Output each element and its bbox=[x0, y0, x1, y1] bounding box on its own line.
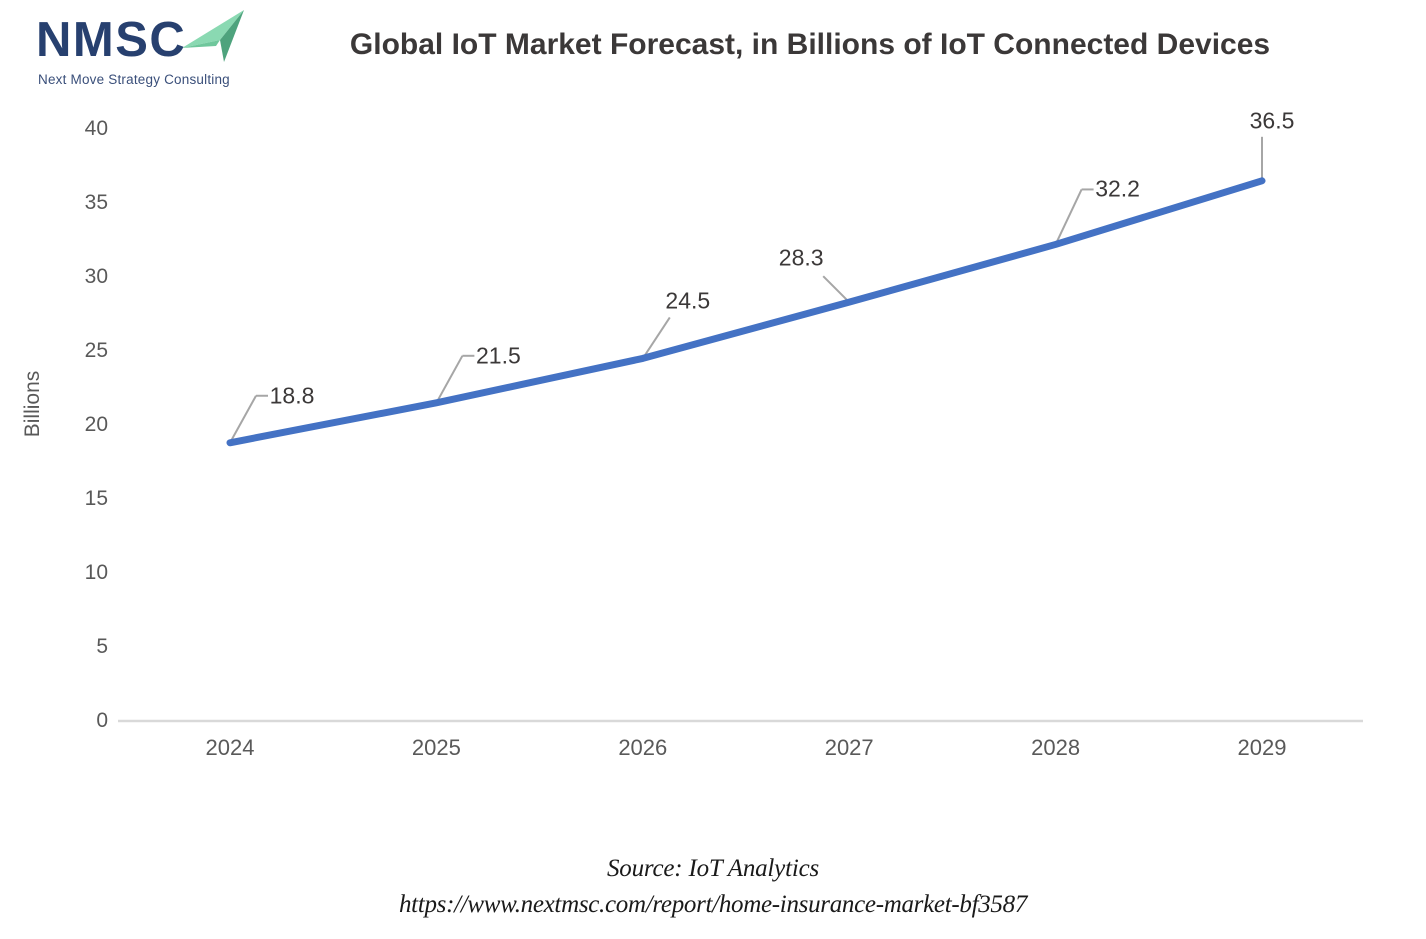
source-value: IoT Analytics bbox=[688, 855, 819, 882]
data-label-2029: 36.5 bbox=[1250, 107, 1295, 134]
leader-line-2027 bbox=[823, 276, 849, 302]
source-label: Source: bbox=[607, 855, 682, 882]
x-tick-label-2027: 2027 bbox=[789, 735, 909, 761]
x-tick-label-2029: 2029 bbox=[1202, 735, 1322, 761]
data-label-2027: 28.3 bbox=[779, 245, 824, 272]
series-line-iot-devices bbox=[230, 181, 1262, 443]
report-url[interactable]: https://www.nextmsc.com/report/home-insu… bbox=[0, 891, 1426, 919]
x-tick-label-2028: 2028 bbox=[996, 735, 1116, 761]
data-label-2024: 18.8 bbox=[270, 382, 315, 409]
data-label-2026: 24.5 bbox=[665, 288, 710, 315]
chart-canvas bbox=[0, 0, 1426, 800]
chart-footer: Source: IoT Analytics https://www.nextms… bbox=[0, 855, 1426, 919]
source-line: Source: IoT Analytics bbox=[0, 855, 1426, 883]
x-tick-label-2026: 2026 bbox=[583, 735, 703, 761]
x-tick-label-2025: 2025 bbox=[376, 735, 496, 761]
data-label-2028: 32.2 bbox=[1095, 176, 1140, 203]
x-tick-label-2024: 2024 bbox=[170, 735, 290, 761]
data-label-2025: 21.5 bbox=[476, 342, 521, 369]
chart-plot-area: Billions 0510152025303540 20242025202620… bbox=[0, 0, 1426, 800]
